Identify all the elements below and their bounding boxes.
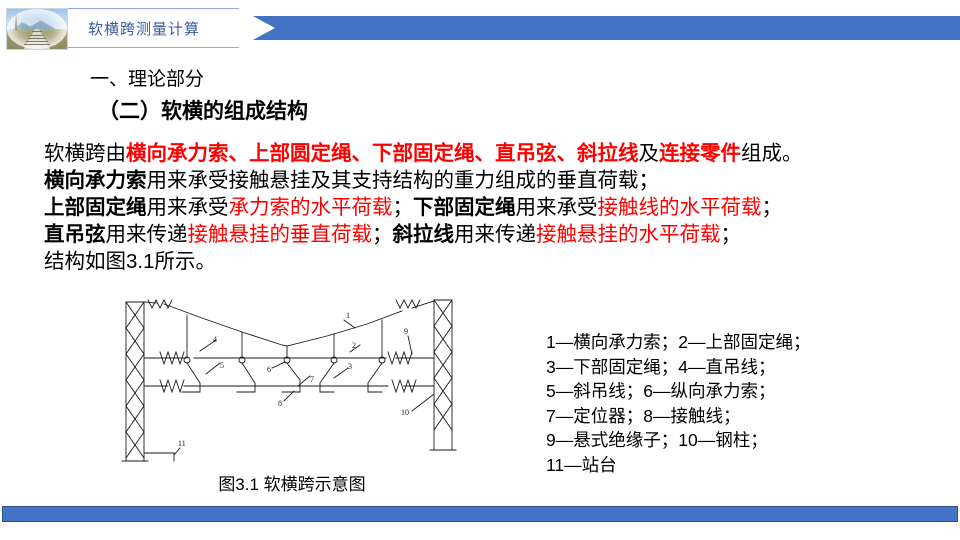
text-segment: 、 [352, 142, 373, 165]
text-segment: 接触线的水平荷载 [598, 196, 762, 219]
text-segment: 用来承受 [147, 196, 229, 219]
text-segment: 斜拉线 [577, 142, 639, 165]
text-segment: 横向承力索 [44, 169, 147, 192]
legend-line: 5—斜吊线；6—纵向承力索； [546, 379, 810, 404]
thumbnail-rail-tie [28, 38, 46, 39]
text-segment: 用来承受接触悬挂及其支持结构的重力组成的垂直荷载； [147, 169, 660, 192]
legend-line: 11—站台 [546, 453, 810, 478]
body-line-line-2: 横向承力索用来承受接触悬挂及其支持结构的重力组成的垂直荷载； [44, 167, 934, 194]
legend-line: 7—定位器；8—接触线； [546, 404, 810, 429]
thumbnail-vignette [7, 9, 67, 49]
text-segment: 软横跨由 [44, 142, 126, 165]
text-segment: 、 [557, 142, 578, 165]
body-text-block: 软横跨由横向承力索、上部圆定绳、下部固定绳、直吊弦、斜拉线及连接零件组成。 横向… [44, 140, 934, 275]
figure-soft-cross-span-diagram: 1 2 3 4 5 6 7 8 9 10 11 [112, 298, 472, 470]
figure-callout-11: 11 [178, 439, 186, 448]
thumbnail-rail-tie [26, 41, 48, 42]
text-segment: ； [393, 196, 414, 219]
text-segment: 、 [229, 142, 250, 165]
figure-legend: 1—横向承力索；2—上部固定绳； 3—下部固定绳；4—直吊线； 5—斜吊线；6—… [546, 330, 810, 477]
text-segment: 下部固定绳 [372, 142, 475, 165]
thumbnail-rail-tie [32, 31, 42, 32]
body-line-line-1: 软横跨由横向承力索、上部圆定绳、下部固定绳、直吊弦、斜拉线及连接零件组成。 [44, 140, 934, 167]
figure-callout-7: 7 [310, 375, 314, 384]
text-segment: 下部固定绳 [413, 196, 516, 219]
text-segment: 承力索的水平荷载 [229, 196, 393, 219]
thumbnail-rail-tie [24, 44, 50, 45]
figure-callout-3: 3 [348, 362, 352, 371]
text-segment: 上部固定绳 [44, 196, 147, 219]
text-segment: 结构如图3.1所示。 [44, 250, 216, 273]
body-line-line-4: 直吊弦用来传递接触悬挂的垂直荷载；斜拉线用来传递接触悬挂的水平荷载； [44, 221, 934, 248]
body-line-line-3: 上部固定绳用来承受承力索的水平荷载；下部固定绳用来承受接触线的水平荷载； [44, 194, 934, 221]
text-segment: 接触悬挂的水平荷载 [536, 223, 721, 246]
text-segment: 直吊弦 [495, 142, 557, 165]
slide-header: 软横跨测量计算 [0, 6, 960, 50]
text-segment: 斜拉线 [393, 223, 455, 246]
footer-bar [2, 506, 958, 522]
text-segment: 、 [475, 142, 496, 165]
figure-callout-8: 8 [278, 399, 282, 408]
figure-callout-2: 2 [352, 341, 356, 350]
text-segment: 接触悬挂的垂直荷载 [188, 223, 373, 246]
figure-callout-10: 10 [401, 408, 409, 417]
text-segment: ； [762, 196, 783, 219]
text-segment: ； [372, 223, 393, 246]
text-segment: 上部圆定绳 [249, 142, 352, 165]
text-segment: 连接零件 [659, 142, 741, 165]
body-line-line-5: 结构如图3.1所示。 [44, 248, 934, 275]
figure-callout-5: 5 [220, 361, 224, 370]
text-segment: 用来承受 [516, 196, 598, 219]
figure-callout-4: 4 [213, 335, 217, 344]
header-thumbnail-image [6, 8, 68, 50]
legend-line: 3—下部固定绳；4—直吊线； [546, 355, 810, 380]
section-heading: 一、理论部分 [90, 64, 204, 91]
figure-caption: 图3.1 软横跨示意图 [112, 470, 472, 495]
sub-heading: （二）软横的组成结构 [98, 95, 308, 125]
text-segment: 横向承力索 [126, 142, 229, 165]
figure-callout-1: 1 [346, 311, 350, 320]
text-segment: 用来传递 [106, 223, 188, 246]
text-segment: 组成。 [741, 142, 803, 165]
text-segment: ； [721, 223, 742, 246]
text-segment: 及 [639, 142, 660, 165]
text-segment: 直吊弦 [44, 223, 106, 246]
thumbnail-rail-tie [30, 35, 44, 36]
text-segment: 用来传递 [454, 223, 536, 246]
slide-canvas: 软横跨测量计算 一、理论部分 （二）软横的组成结构 软横跨由横向承力索、上部圆定… [0, 0, 960, 540]
legend-line: 1—横向承力索；2—上部固定绳； [546, 330, 810, 355]
header-title: 软横跨测量计算 [88, 18, 200, 39]
figure-callout-9: 9 [404, 327, 408, 336]
figure-callout-6: 6 [267, 365, 271, 374]
header-blue-bar [170, 16, 960, 40]
legend-line: 9—悬式绝缘子；10—钢柱； [546, 428, 810, 453]
